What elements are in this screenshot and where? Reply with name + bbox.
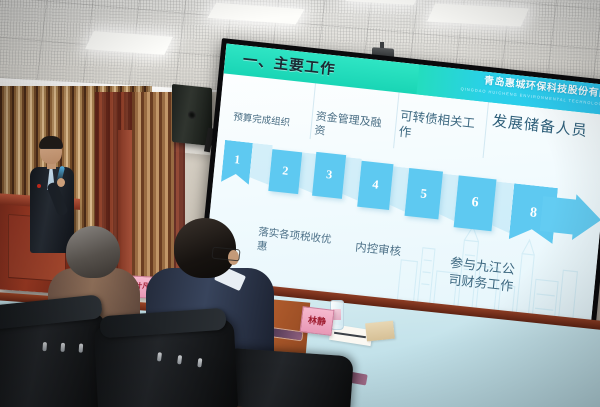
- step-marker-6: 6: [454, 175, 497, 231]
- attendee-head: [66, 226, 120, 278]
- top-label-1: 预算完成组织: [233, 113, 308, 133]
- bottom-label-2: 内控审核: [354, 241, 435, 265]
- top-label-2: 资金管理及融资: [314, 111, 390, 146]
- step-marker-4: 4: [357, 161, 393, 210]
- conference-room-photo: 一、主要工作 青岛惠城环保科技股份有限 QINGDAO HUICHENG ENV…: [0, 0, 600, 407]
- office-chair: [220, 348, 354, 407]
- chair-stud: [60, 343, 65, 352]
- chair-stud: [157, 352, 162, 361]
- step-marker-2: 2: [268, 149, 302, 194]
- presenter-hand: [57, 178, 65, 187]
- step-marker-5: 5: [405, 168, 443, 219]
- chair-stud: [79, 343, 84, 352]
- folder: [365, 321, 395, 342]
- bottom-label-3: 参与九江公司财务工作: [448, 255, 523, 296]
- presenter-lapel-pin: [37, 184, 41, 188]
- top-label-4: 发展储备人员: [491, 113, 600, 145]
- name-card-text: 林静: [301, 312, 332, 329]
- step-marker-1: 1: [221, 140, 253, 185]
- chair-stud: [42, 342, 47, 351]
- chair-stud: [177, 355, 182, 364]
- top-label-3: 可转债相关工作: [398, 109, 483, 149]
- name-card: 林静: [300, 306, 335, 336]
- chair-stud: [197, 358, 202, 367]
- step-marker-3: 3: [312, 152, 346, 199]
- presenter-glasses: [41, 148, 61, 154]
